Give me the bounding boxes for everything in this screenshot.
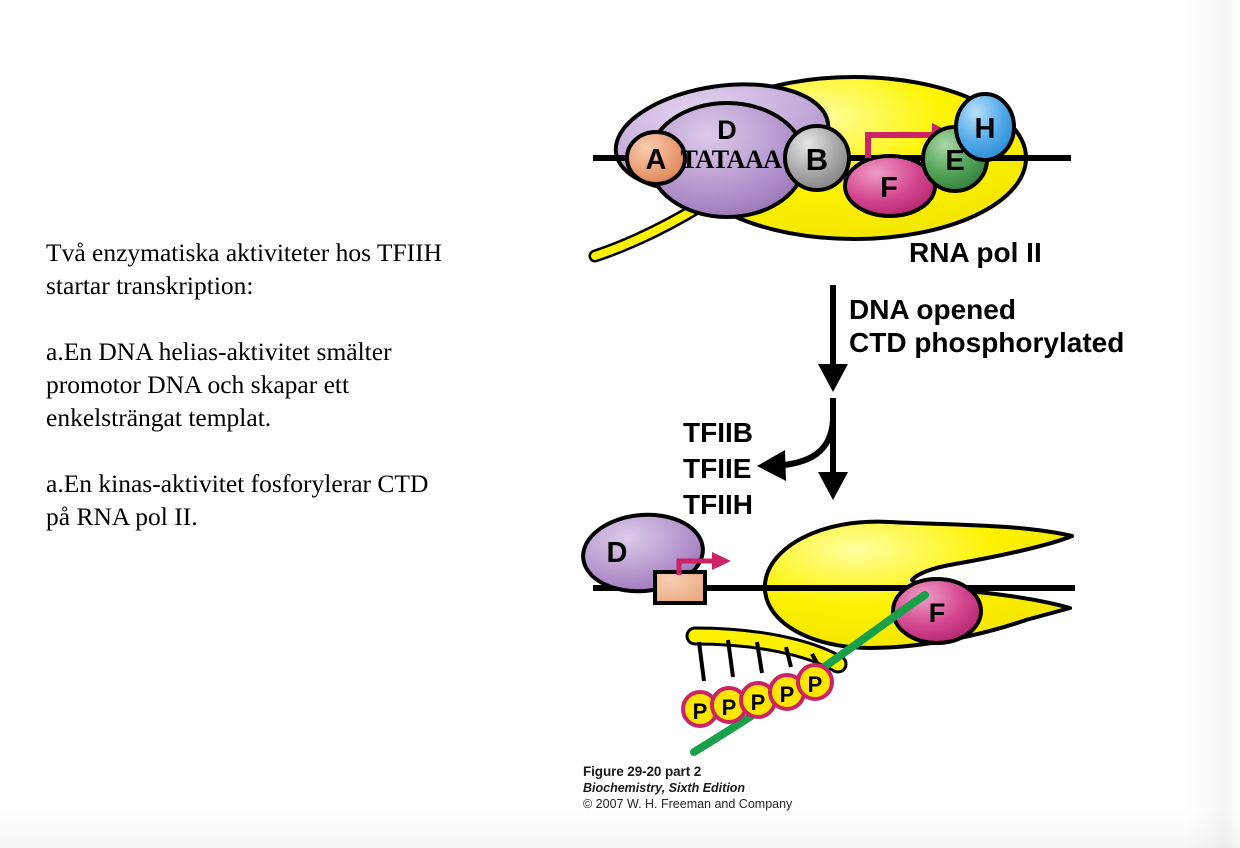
phosphate-label: P xyxy=(751,690,766,715)
figure-text-labels: RNA pol II DNA opened CTD phosphorylated… xyxy=(683,237,1124,520)
caption-book: Biochemistry, Sixth Edition xyxy=(583,780,1003,796)
figure-caption: Figure 29-20 part 2 Biochemistry, Sixth … xyxy=(583,763,1003,813)
figure-diagram: A TATAAA D B F E H xyxy=(0,0,1240,848)
tfiid-label-bottom: D xyxy=(607,537,628,569)
phosphate-group: P P P P P xyxy=(683,665,832,726)
tfiih-label-top: H xyxy=(975,113,996,145)
released-factor-tfiie: TFIIE xyxy=(683,453,751,484)
phosphate-label: P xyxy=(780,682,795,707)
rna-pol-ii-label: RNA pol II xyxy=(909,237,1042,268)
bottom-panel-group: F D P xyxy=(580,510,1075,752)
phosphate-label: P xyxy=(808,672,823,697)
start-arrow-head-bottom xyxy=(712,552,731,570)
release-arrow-head xyxy=(757,450,786,481)
step-label-line-1: DNA opened xyxy=(849,294,1016,325)
released-factor-tfiib: TFIIB xyxy=(683,417,753,448)
tata-box-label: TATAAA xyxy=(681,145,783,174)
tfiif-label-top: F xyxy=(880,172,898,204)
promoter-box xyxy=(655,572,705,603)
tfiie-label-top: E xyxy=(945,145,964,177)
tfiib-label-top: B xyxy=(806,142,828,177)
phosphate-label: P xyxy=(693,699,708,724)
step-label-line-2: CTD phosphorylated xyxy=(849,327,1124,358)
phosphate-label: P xyxy=(722,695,737,720)
top-panel-group: A TATAAA D B F E H xyxy=(593,72,1071,256)
transition-arrow-2-head xyxy=(818,472,848,500)
transition-group xyxy=(757,285,848,500)
transition-arrow-1-head xyxy=(818,364,848,392)
caption-title: Figure 29-20 part 2 xyxy=(583,763,1003,780)
tfiif-label-bottom: F xyxy=(929,598,946,628)
released-factor-tfiih: TFIIH xyxy=(683,489,753,520)
tfiid-label-top: D xyxy=(717,115,737,145)
caption-copyright: © 2007 W. H. Freeman and Company xyxy=(583,796,1003,813)
tfiia-label-top: A xyxy=(646,144,667,176)
slide-canvas: Två enzymatiska aktiviteter hos TFIIH st… xyxy=(0,0,1240,848)
